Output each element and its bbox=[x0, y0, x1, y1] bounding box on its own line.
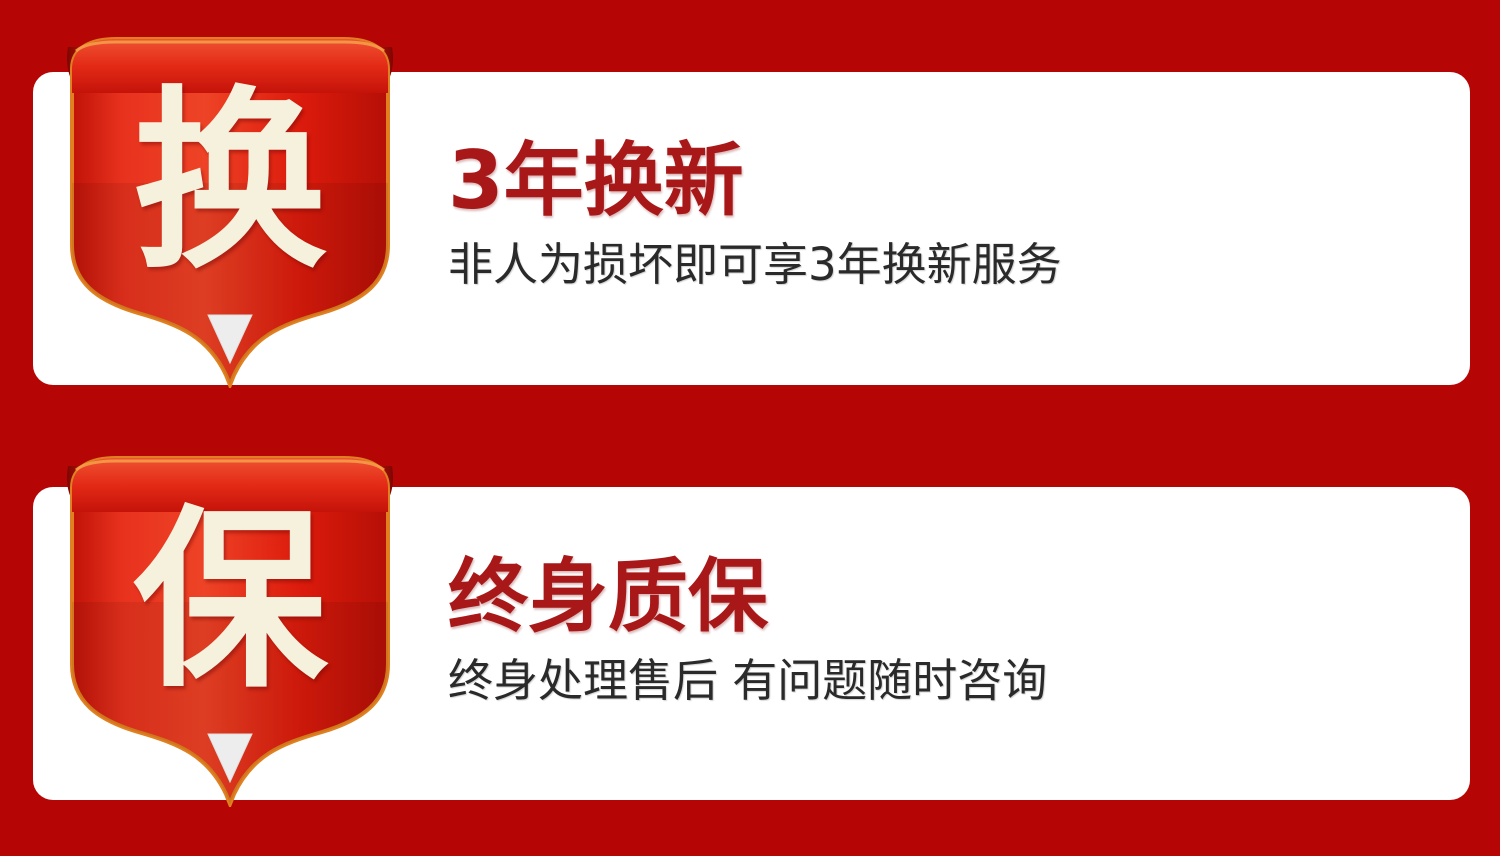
replacement-text-block: 3年换新 非人为损坏即可享3年换新服务 bbox=[448, 140, 1062, 289]
replacement-subline: 非人为损坏即可享3年换新服务 bbox=[448, 240, 1062, 290]
warranty-badge: 保 bbox=[62, 452, 398, 807]
replacement-headline: 3年换新 bbox=[448, 140, 1062, 222]
badge-character: 换 bbox=[62, 85, 398, 279]
badge-character: 保 bbox=[62, 504, 398, 698]
warranty-text-block: 终身质保 终身处理售后 有问题随时咨询 bbox=[448, 556, 1047, 705]
warranty-headline: 终身质保 bbox=[448, 556, 1047, 638]
warranty-subline: 终身处理售后 有问题随时咨询 bbox=[448, 656, 1047, 706]
replacement-badge: 换 bbox=[62, 33, 398, 388]
service-guarantee-banner: 换 3年换新 非人为损坏即可享3年换新服务 bbox=[0, 0, 1500, 856]
